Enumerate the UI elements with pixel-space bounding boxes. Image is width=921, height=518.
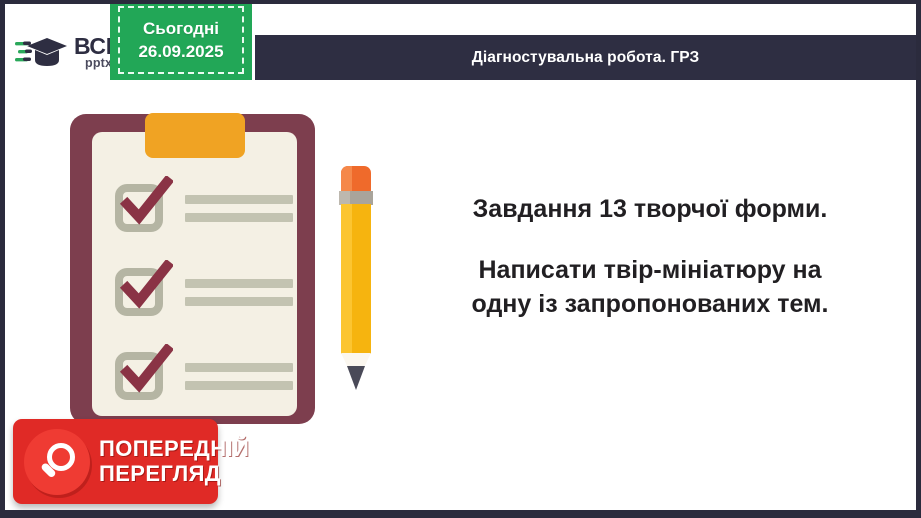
page-title: Діагностувальна робота. ГРЗ [472, 49, 700, 67]
slide-canvas: ВСІМ pptx Сьогодні 26.09.2025 Діагностув… [5, 4, 916, 510]
checkbox-icon [115, 184, 163, 232]
list-item-lines [185, 195, 293, 222]
pencil-body-highlight [341, 204, 352, 354]
clipboard-illustration [70, 114, 315, 424]
pencil-illustration [338, 166, 374, 391]
graduation-cap-icon [15, 33, 69, 73]
slide-root: ВСІМ pptx Сьогодні 26.09.2025 Діагностув… [0, 0, 921, 518]
today-date: 26.09.2025 [138, 42, 223, 62]
magnifier-icon [24, 429, 90, 495]
text-line [185, 297, 293, 306]
list-item-lines [185, 363, 293, 390]
task-line-2: Написати твір-мініатюру на [400, 253, 900, 288]
text-line [185, 381, 293, 390]
check-icon [117, 176, 173, 228]
task-line-1: Завдання 13 творчої форми. [400, 192, 900, 227]
list-item [115, 264, 293, 320]
pencil-eraser-highlight [341, 166, 352, 192]
checkbox-icon [115, 352, 163, 400]
task-line-3: одну із запропонованих тем. [400, 287, 900, 322]
list-item [115, 348, 293, 404]
list-item [115, 180, 293, 236]
preview-line-2: ПЕРЕГЛЯД [99, 463, 249, 485]
text-line [185, 363, 293, 372]
checkbox-icon [115, 268, 163, 316]
pencil-tip [347, 366, 365, 390]
text-line [185, 195, 293, 204]
check-icon [117, 344, 173, 396]
today-banner: Сьогодні 26.09.2025 [110, 4, 252, 80]
text-line [185, 213, 293, 222]
checklist [115, 180, 293, 404]
preview-badge: ПОПЕРЕДНІЙ ПЕРЕГЛЯД [13, 419, 218, 504]
pencil-ferrule-highlight [339, 191, 350, 205]
preview-line-1: ПОПЕРЕДНІЙ [99, 438, 249, 460]
list-item-lines [185, 279, 293, 306]
today-label: Сьогодні [143, 19, 219, 39]
preview-badge-label: ПОПЕРЕДНІЙ ПЕРЕГЛЯД [99, 438, 249, 485]
clipboard-clip [145, 113, 245, 158]
text-line [185, 279, 293, 288]
header-bar: Діагностувальна робота. ГРЗ [255, 35, 916, 80]
paragraph-spacer [400, 227, 900, 253]
check-icon [117, 260, 173, 312]
slide-body-text: Завдання 13 творчої форми. Написати твір… [400, 192, 900, 322]
